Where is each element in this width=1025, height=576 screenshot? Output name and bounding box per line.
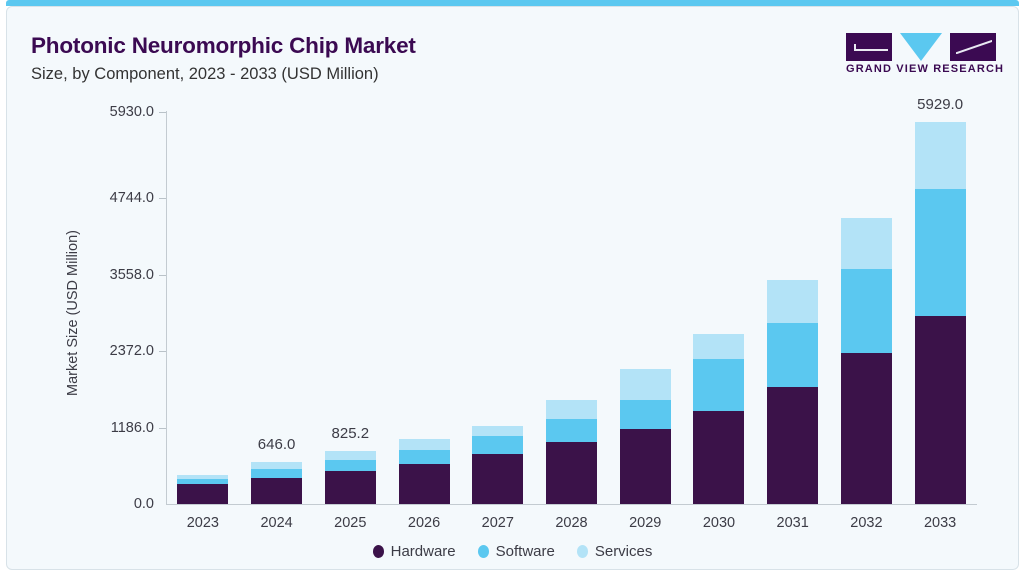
bar-group[interactable]: [251, 462, 302, 504]
bar-segment-services[interactable]: [251, 462, 302, 469]
bar-value-label: 5929.0: [870, 96, 1010, 113]
bar-segment-hardware[interactable]: [325, 471, 376, 504]
bar-segment-hardware[interactable]: [546, 442, 597, 504]
y-axis-tick-label: 0.0: [74, 496, 154, 512]
stacked-bar-chart: 0.01186.02372.03558.04744.05930.0Market …: [7, 7, 1019, 570]
y-axis-title: Market Size (USD Million): [65, 230, 81, 396]
bar-segment-hardware[interactable]: [841, 353, 892, 504]
bar-segment-software[interactable]: [472, 436, 523, 455]
bar-group[interactable]: [767, 280, 818, 504]
legend-item[interactable]: Services: [577, 543, 653, 560]
bar-segment-software[interactable]: [546, 419, 597, 442]
legend-label: Services: [595, 543, 653, 560]
bar-segment-services[interactable]: [620, 369, 671, 400]
bar-segment-services[interactable]: [767, 280, 818, 323]
bar-segment-software[interactable]: [251, 469, 302, 478]
bar-segment-hardware[interactable]: [620, 429, 671, 504]
bar-group[interactable]: [399, 439, 450, 504]
bar-segment-hardware[interactable]: [251, 478, 302, 504]
y-axis-tick-label: 5930.0: [74, 104, 154, 120]
bar-group[interactable]: [915, 122, 966, 504]
y-axis-tick-label: 3558.0: [74, 267, 154, 283]
bar-segment-software[interactable]: [767, 323, 818, 387]
bar-group[interactable]: [620, 369, 671, 504]
bar-segment-hardware[interactable]: [693, 411, 744, 504]
y-axis-tick-label: 2372.0: [74, 343, 154, 359]
x-axis-line: [166, 504, 977, 505]
chart-legend: HardwareSoftwareServices: [7, 543, 1018, 560]
bar-segment-services[interactable]: [546, 400, 597, 419]
y-axis-line: [166, 111, 167, 505]
bar-segment-services[interactable]: [915, 122, 966, 189]
y-axis-tick-mark: [159, 112, 166, 113]
bar-group[interactable]: [325, 451, 376, 504]
y-axis-tick-label: 1186.0: [74, 420, 154, 436]
bar-group[interactable]: [693, 334, 744, 504]
legend-label: Hardware: [391, 543, 456, 560]
bar-segment-software[interactable]: [620, 400, 671, 428]
bar-segment-hardware[interactable]: [472, 454, 523, 504]
legend-color-swatch-icon: [478, 545, 489, 558]
bar-segment-services[interactable]: [177, 475, 228, 479]
bar-segment-software[interactable]: [325, 460, 376, 472]
bar-segment-software[interactable]: [693, 359, 744, 411]
y-axis-tick-mark: [159, 275, 166, 276]
bar-segment-hardware[interactable]: [399, 464, 450, 504]
y-axis-tick-label: 4744.0: [74, 190, 154, 206]
bar-segment-software[interactable]: [841, 269, 892, 353]
bar-group[interactable]: [546, 400, 597, 504]
bar-segment-services[interactable]: [472, 426, 523, 436]
legend-item[interactable]: Hardware: [373, 543, 456, 560]
x-axis-tick-label: 2033: [880, 515, 1000, 531]
bar-group[interactable]: [841, 218, 892, 504]
legend-item[interactable]: Software: [478, 543, 555, 560]
bar-segment-services[interactable]: [325, 451, 376, 460]
bar-group[interactable]: [177, 475, 228, 505]
bar-segment-services[interactable]: [399, 439, 450, 450]
y-axis-tick-mark: [159, 428, 166, 429]
bar-segment-software[interactable]: [399, 450, 450, 465]
legend-color-swatch-icon: [373, 545, 384, 558]
y-axis-tick-mark: [159, 351, 166, 352]
legend-label: Software: [496, 543, 555, 560]
bar-segment-software[interactable]: [915, 189, 966, 316]
bar-segment-software[interactable]: [177, 479, 228, 484]
y-axis-tick-mark: [159, 198, 166, 199]
bar-segment-services[interactable]: [693, 334, 744, 359]
bar-segment-hardware[interactable]: [915, 316, 966, 504]
legend-color-swatch-icon: [577, 545, 588, 558]
bar-segment-hardware[interactable]: [767, 387, 818, 504]
bar-group[interactable]: [472, 426, 523, 504]
bar-segment-services[interactable]: [841, 218, 892, 269]
chart-card: Photonic Neuromorphic Chip Market Size, …: [6, 6, 1019, 570]
bar-segment-hardware[interactable]: [177, 484, 228, 504]
